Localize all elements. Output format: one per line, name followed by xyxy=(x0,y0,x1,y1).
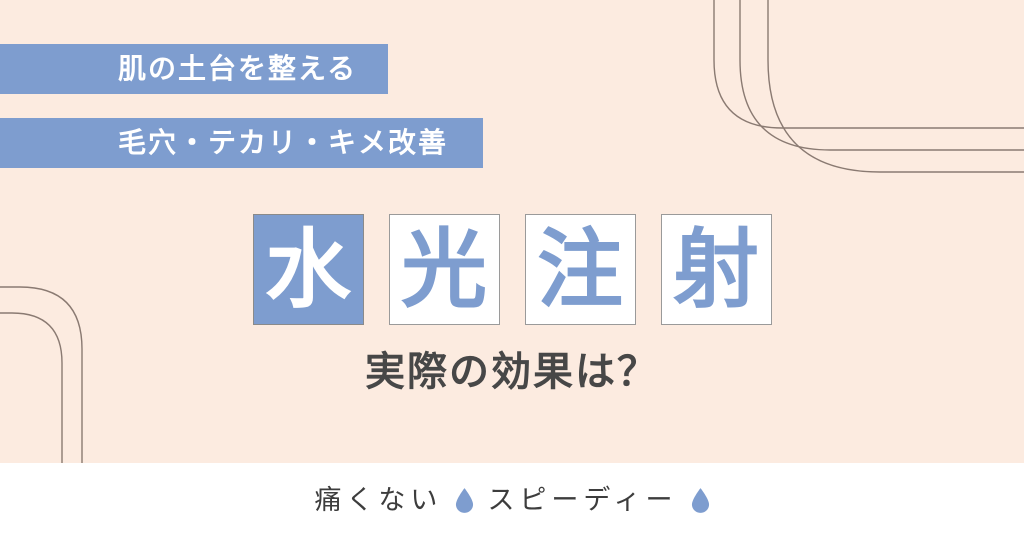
tagline-banner-1: 肌の土台を整える xyxy=(0,44,388,94)
kanji-char-1: 水 xyxy=(265,227,351,313)
kanji-char-3: 注 xyxy=(537,227,623,313)
kanji-box-2: 光 xyxy=(389,214,500,325)
tagline-banner-2: 毛穴・テカリ・キメ改善 xyxy=(0,118,483,168)
water-drop-icon xyxy=(691,488,710,513)
deco-arc-top-3 xyxy=(768,0,1024,172)
headline-kanji-row: 水 光 注 射 xyxy=(0,214,1024,325)
water-drop-icon xyxy=(455,488,474,513)
kanji-box-1: 水 xyxy=(253,214,364,325)
headline-subtitle: 実際の効果は？ xyxy=(0,348,1024,396)
footer-content: 痛くない スピーディー xyxy=(314,487,709,514)
promo-banner: 肌の土台を整える 毛穴・テカリ・キメ改善 水 光 注 射 実際の効果は？ xyxy=(0,0,1024,538)
deco-arc-top-2 xyxy=(740,0,1024,150)
footer-text-right: スピーディー xyxy=(487,487,677,514)
tagline-banner-2-label: 毛穴・テカリ・キメ改善 xyxy=(0,129,460,157)
kanji-char-4: 射 xyxy=(673,227,759,313)
footer-bar: 痛くない スピーディー xyxy=(0,463,1024,538)
footer-text-left: 痛くない xyxy=(314,487,442,514)
kanji-char-2: 光 xyxy=(401,227,487,313)
deco-arc-top-1 xyxy=(714,0,1024,128)
kanji-box-3: 注 xyxy=(525,214,636,325)
kanji-box-4: 射 xyxy=(661,214,772,325)
tagline-banner-1-label: 肌の土台を整える xyxy=(0,55,369,83)
banner-stage: 肌の土台を整える 毛穴・テカリ・キメ改善 水 光 注 射 実際の効果は？ xyxy=(0,0,1024,463)
